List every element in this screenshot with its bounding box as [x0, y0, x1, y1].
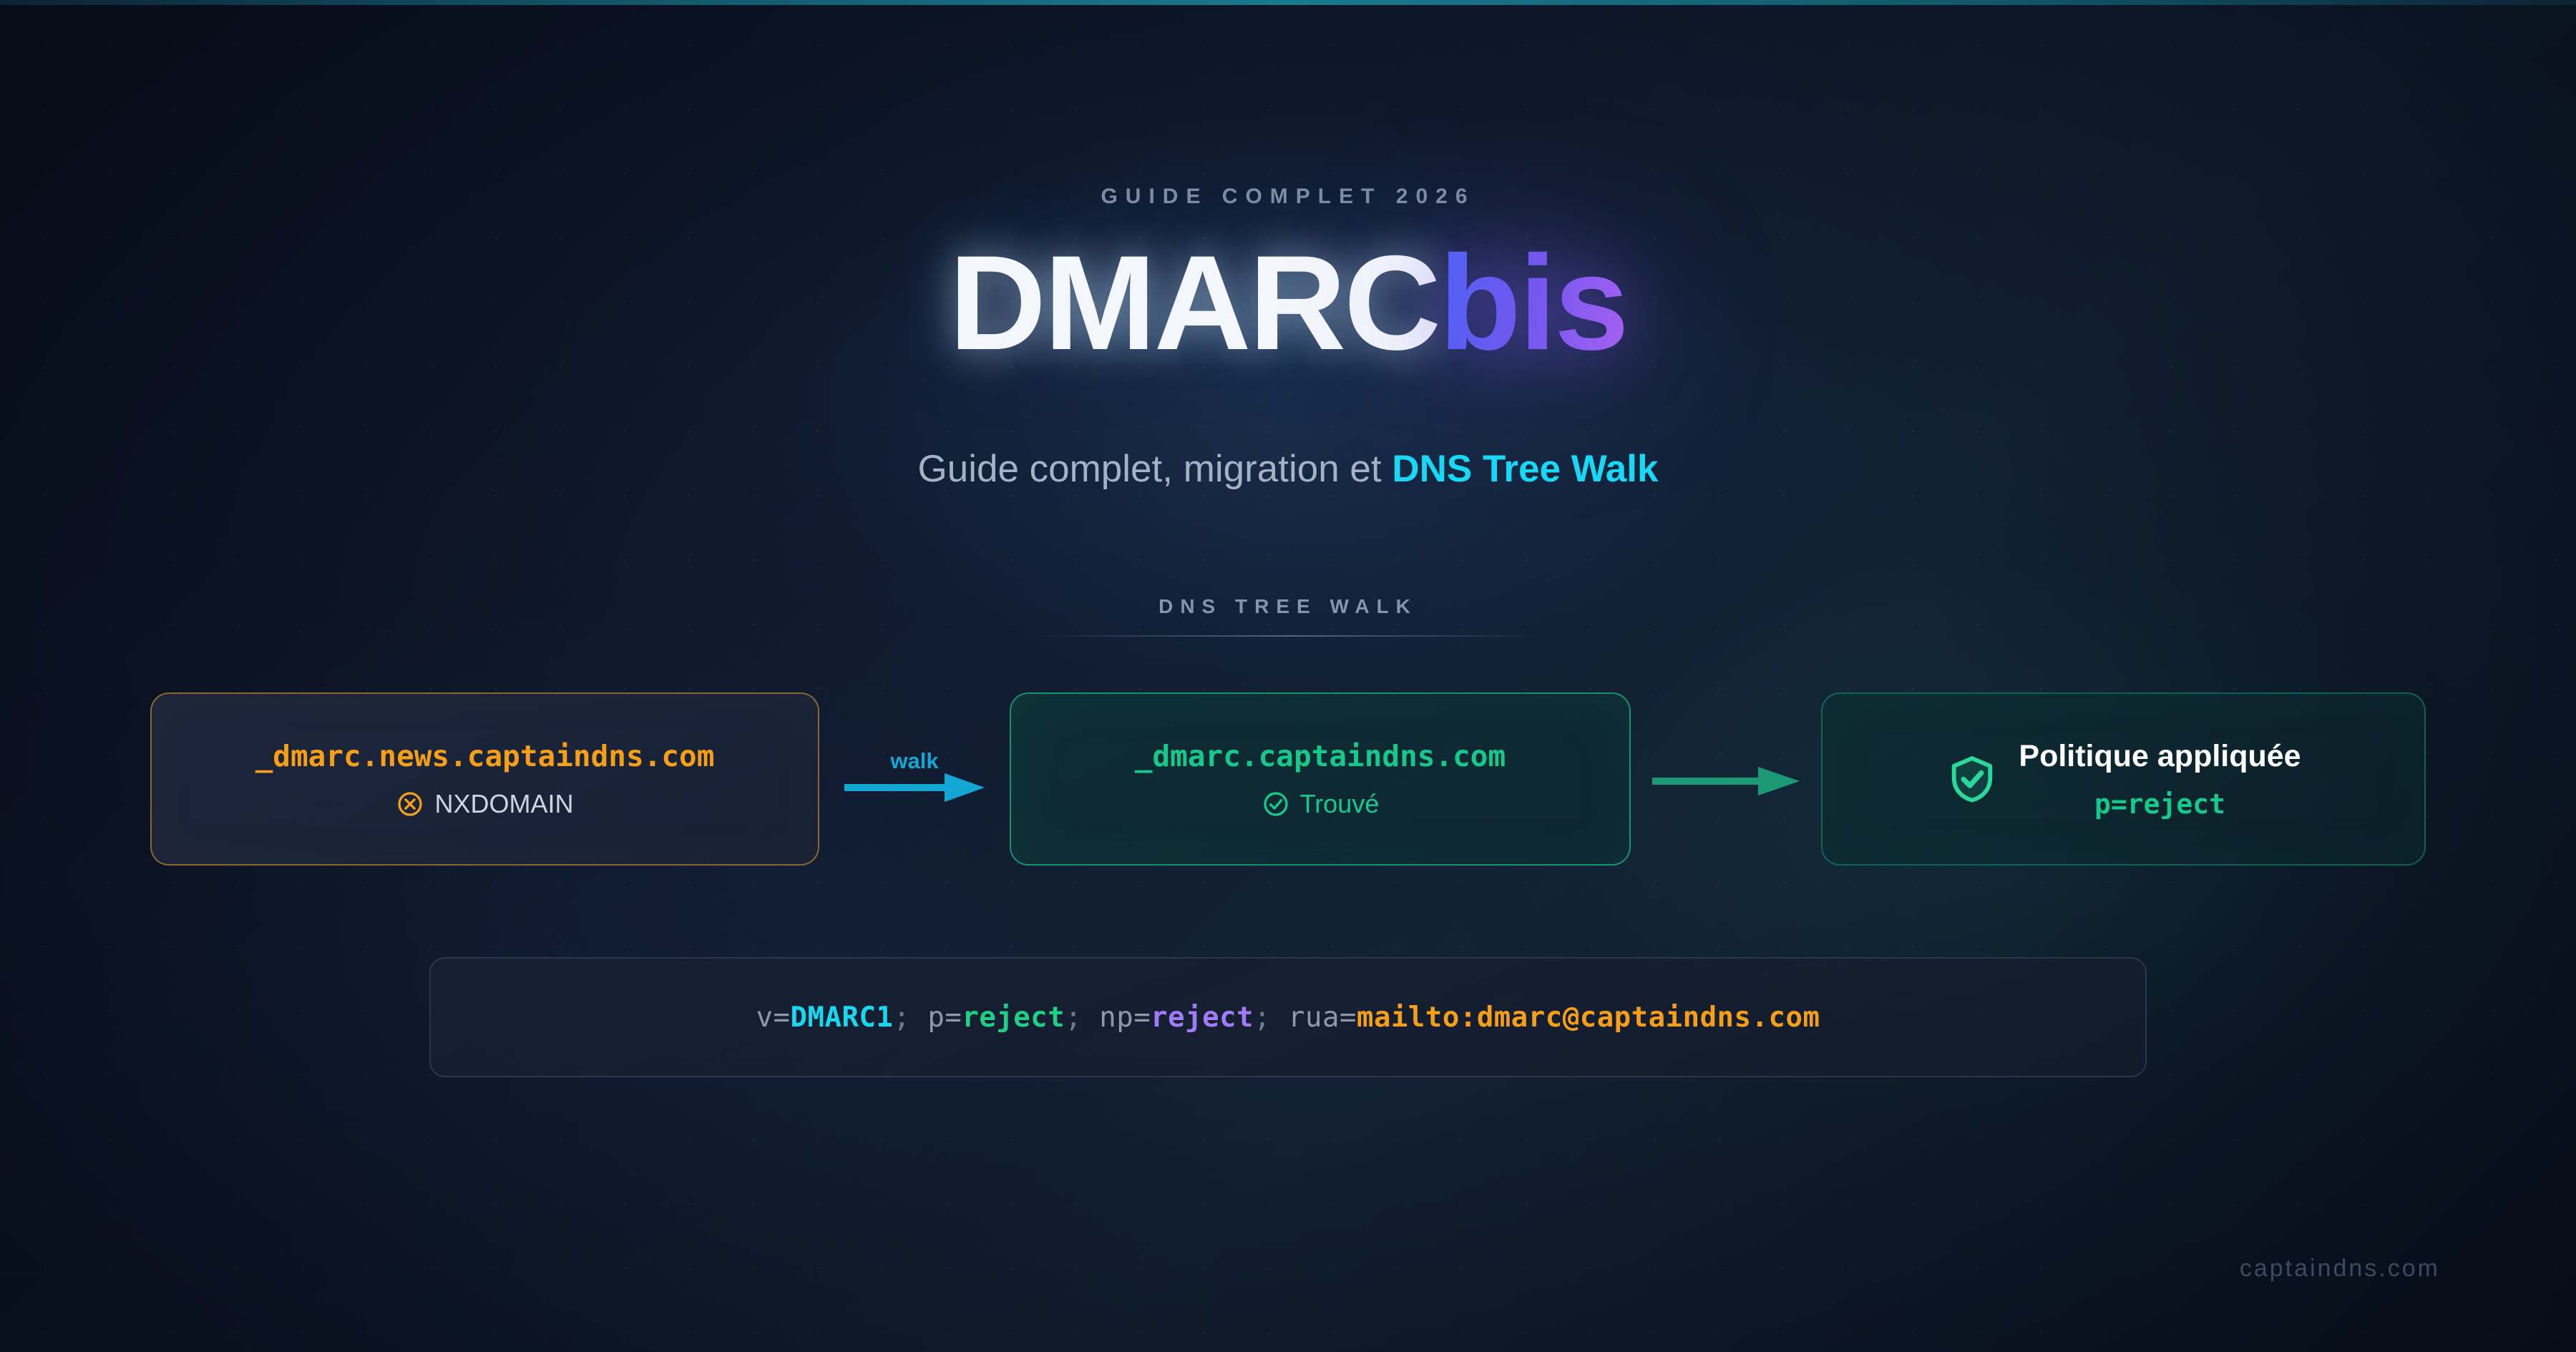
- flow-node-status-label: Trouvé: [1300, 789, 1380, 819]
- wordmark-accent: bis: [1439, 227, 1627, 378]
- record-token-v: DMARC1: [791, 1001, 894, 1034]
- record-token-sp: [1271, 1001, 1288, 1034]
- dns-tree-walk-flow: _dmarc.news.captaindns.com NXDOMAIN walk: [150, 692, 2426, 866]
- record-token-key: p: [927, 1001, 945, 1034]
- flow-connector-walk: walk: [819, 692, 1010, 866]
- flow-node-policy-text: Politique appliquée p=reject: [2019, 739, 2301, 820]
- record-token-p: reject: [962, 1001, 1065, 1034]
- record-token-key: v: [756, 1001, 774, 1034]
- dmarc-record-text: v=DMARC1; p=reject; np=reject; rua=mailt…: [756, 1001, 1820, 1034]
- wordmark-main: DMARC: [949, 227, 1439, 378]
- flow-node-policy-value: p=reject: [2094, 788, 2225, 820]
- record-token-sp: [1082, 1001, 1099, 1034]
- record-token-key: rua: [1288, 1001, 1340, 1034]
- poster-stage: GUIDE COMPLET 2026 DMARCbis Guide comple…: [0, 0, 2576, 1352]
- arrow-right-icon: [1652, 763, 1800, 803]
- flow-connector-apply: [1631, 692, 1821, 866]
- hero-wordmark: DMARCbis: [0, 230, 2576, 376]
- record-token-eq: =: [774, 1001, 791, 1034]
- flow-node-status-label: NXDOMAIN: [434, 789, 573, 819]
- flow-node-lookup-found[interactable]: _dmarc.captaindns.com Trouvé: [1010, 692, 1631, 866]
- circle-x-icon: [396, 790, 424, 818]
- subtitle-lead: Guide complet, migration et: [918, 448, 1392, 490]
- shield-check-icon: [1946, 753, 1999, 805]
- flow-node-status: NXDOMAIN: [396, 789, 573, 819]
- arrow-right-icon: [844, 769, 985, 810]
- dmarc-record-box[interactable]: v=DMARC1; p=reject; np=reject; rua=mailt…: [429, 957, 2147, 1077]
- record-token-key: np: [1099, 1001, 1133, 1034]
- footer-url: captaindns.com: [0, 1255, 2576, 1283]
- hero-subtitle: Guide complet, migration et DNS Tree Wal…: [0, 447, 2576, 491]
- flow-node-domain: _dmarc.captaindns.com: [1135, 739, 1506, 773]
- record-token-np: reject: [1151, 1001, 1254, 1034]
- flow-node-policy-applied[interactable]: Politique appliquée p=reject: [1821, 692, 2426, 866]
- record-token-semi: ;: [893, 1001, 910, 1034]
- record-token-semi: ;: [1065, 1001, 1082, 1034]
- flow-node-lookup-miss[interactable]: _dmarc.news.captaindns.com NXDOMAIN: [150, 692, 819, 866]
- record-token-eq: =: [945, 1001, 962, 1034]
- record-token-rua: mailto:dmarc@captaindns.com: [1357, 1001, 1820, 1034]
- hero-eyebrow: GUIDE COMPLET 2026: [0, 185, 2576, 209]
- subtitle-accent: DNS Tree Walk: [1392, 448, 1658, 490]
- section-label: DNS TREE WALK: [0, 595, 2576, 618]
- flow-node-status: Trouvé: [1262, 789, 1380, 819]
- record-token-eq: =: [1340, 1001, 1357, 1034]
- record-token-semi: ;: [1254, 1001, 1271, 1034]
- record-token-sp: [910, 1001, 927, 1034]
- flow-node-domain: _dmarc.news.captaindns.com: [255, 739, 715, 773]
- circle-check-icon: [1262, 790, 1290, 818]
- record-token-eq: =: [1133, 1001, 1151, 1034]
- section-divider: [1030, 635, 1549, 637]
- flow-node-policy-title: Politique appliquée: [2019, 739, 2301, 774]
